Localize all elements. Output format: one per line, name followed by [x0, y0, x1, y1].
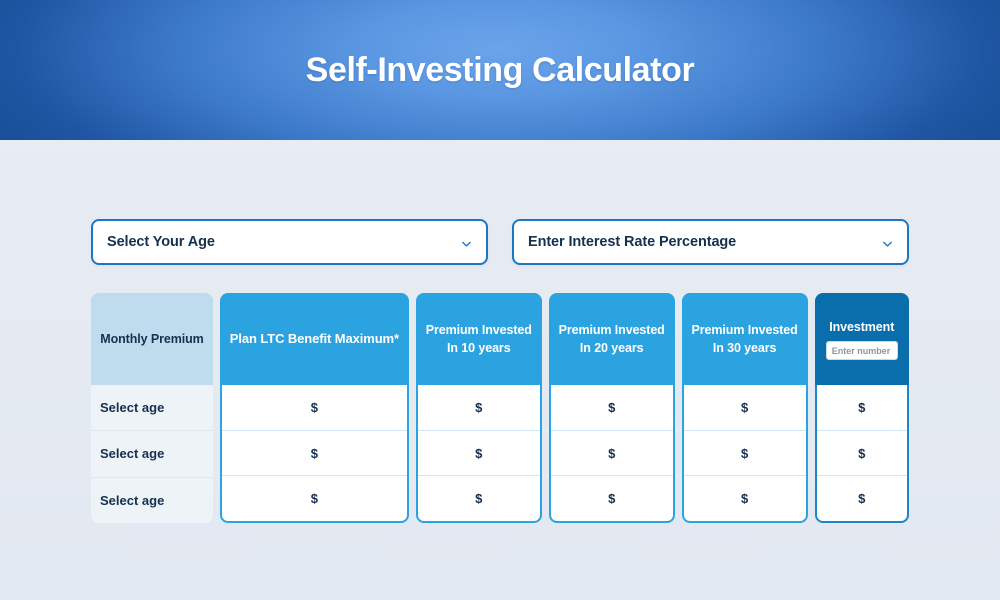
interest-rate-select[interactable]: Enter Interest Rate Percentage: [512, 219, 909, 265]
table-row[interactable]: Select age: [91, 477, 213, 523]
controls-row: Select Your Age Enter Interest Rate Perc…: [91, 219, 909, 265]
column-header-investment: Investment Enter number: [815, 293, 909, 385]
column-body-premium-invested-10-years: $ $ $: [416, 385, 542, 523]
table-row: $: [817, 475, 907, 521]
column-header-premium-invested-30-years: Premium Invested In 30 years: [682, 293, 808, 385]
column-header-label: Investment: [823, 318, 900, 336]
column-header-sublabel: In 30 years: [707, 339, 783, 357]
table-row: $: [684, 385, 806, 430]
table-row: $: [551, 430, 673, 476]
table-row[interactable]: Select age: [91, 385, 213, 430]
column-header-label: Premium Invested: [420, 321, 538, 339]
column-investment: Investment Enter number $ $ $: [815, 293, 909, 523]
column-premium-invested-30-years: Premium Invested In 30 years $ $ $: [682, 293, 808, 523]
table-row: $: [222, 385, 407, 430]
table-row: $: [817, 430, 907, 476]
column-premium-invested-10-years: Premium Invested In 10 years $ $ $: [416, 293, 542, 523]
column-header-label: Premium Invested: [553, 321, 671, 339]
calculator-page: Self-Investing Calculator Select Your Ag…: [0, 0, 1000, 600]
table-row: $: [817, 385, 907, 430]
interest-rate-select-label: Enter Interest Rate Percentage: [528, 234, 736, 250]
age-select-label: Select Your Age: [107, 234, 215, 250]
column-header-label: Premium Invested: [686, 321, 804, 339]
column-monthly-premium: Monthly Premium Select age Select age Se…: [91, 293, 213, 523]
column-premium-invested-20-years: Premium Invested In 20 years $ $ $: [549, 293, 675, 523]
column-body-premium-invested-20-years: $ $ $: [549, 385, 675, 523]
column-header-monthly-premium: Monthly Premium: [91, 293, 213, 385]
table-row: $: [222, 430, 407, 476]
chevron-down-icon: [461, 237, 472, 248]
table-row: $: [222, 475, 407, 521]
table-row: $: [418, 430, 540, 476]
column-body-plan-ltc-benefit-maximum: $ $ $: [220, 385, 409, 523]
column-header-plan-ltc-benefit-maximum: Plan LTC Benefit Maximum*: [220, 293, 409, 385]
table-row[interactable]: Select age: [91, 430, 213, 476]
column-header-premium-invested-20-years: Premium Invested In 20 years: [549, 293, 675, 385]
column-header-label: Plan LTC Benefit Maximum*: [224, 330, 405, 349]
column-header-premium-invested-10-years: Premium Invested In 10 years: [416, 293, 542, 385]
column-header-sublabel: In 10 years: [441, 339, 517, 357]
table-row: $: [684, 475, 806, 521]
age-select[interactable]: Select Your Age: [91, 219, 488, 265]
table-row: $: [418, 475, 540, 521]
column-header-sublabel: In 20 years: [574, 339, 650, 357]
table-row: $: [684, 430, 806, 476]
table-row: $: [551, 385, 673, 430]
table-row: $: [418, 385, 540, 430]
column-body-premium-invested-30-years: $ $ $: [682, 385, 808, 523]
column-body-investment: $ $ $: [815, 385, 909, 523]
chevron-down-icon: [882, 237, 893, 248]
page-header: Self-Investing Calculator: [0, 0, 1000, 140]
column-header-label: Monthly Premium: [94, 330, 209, 348]
table-row: $: [551, 475, 673, 521]
page-title: Self-Investing Calculator: [306, 51, 695, 90]
investment-input-placeholder: Enter number: [832, 346, 891, 356]
results-table: Monthly Premium Select age Select age Se…: [91, 293, 909, 523]
column-plan-ltc-benefit-maximum: Plan LTC Benefit Maximum* $ $ $: [220, 293, 409, 523]
column-body-monthly-premium: Select age Select age Select age: [91, 385, 213, 523]
investment-input[interactable]: Enter number: [826, 341, 898, 360]
